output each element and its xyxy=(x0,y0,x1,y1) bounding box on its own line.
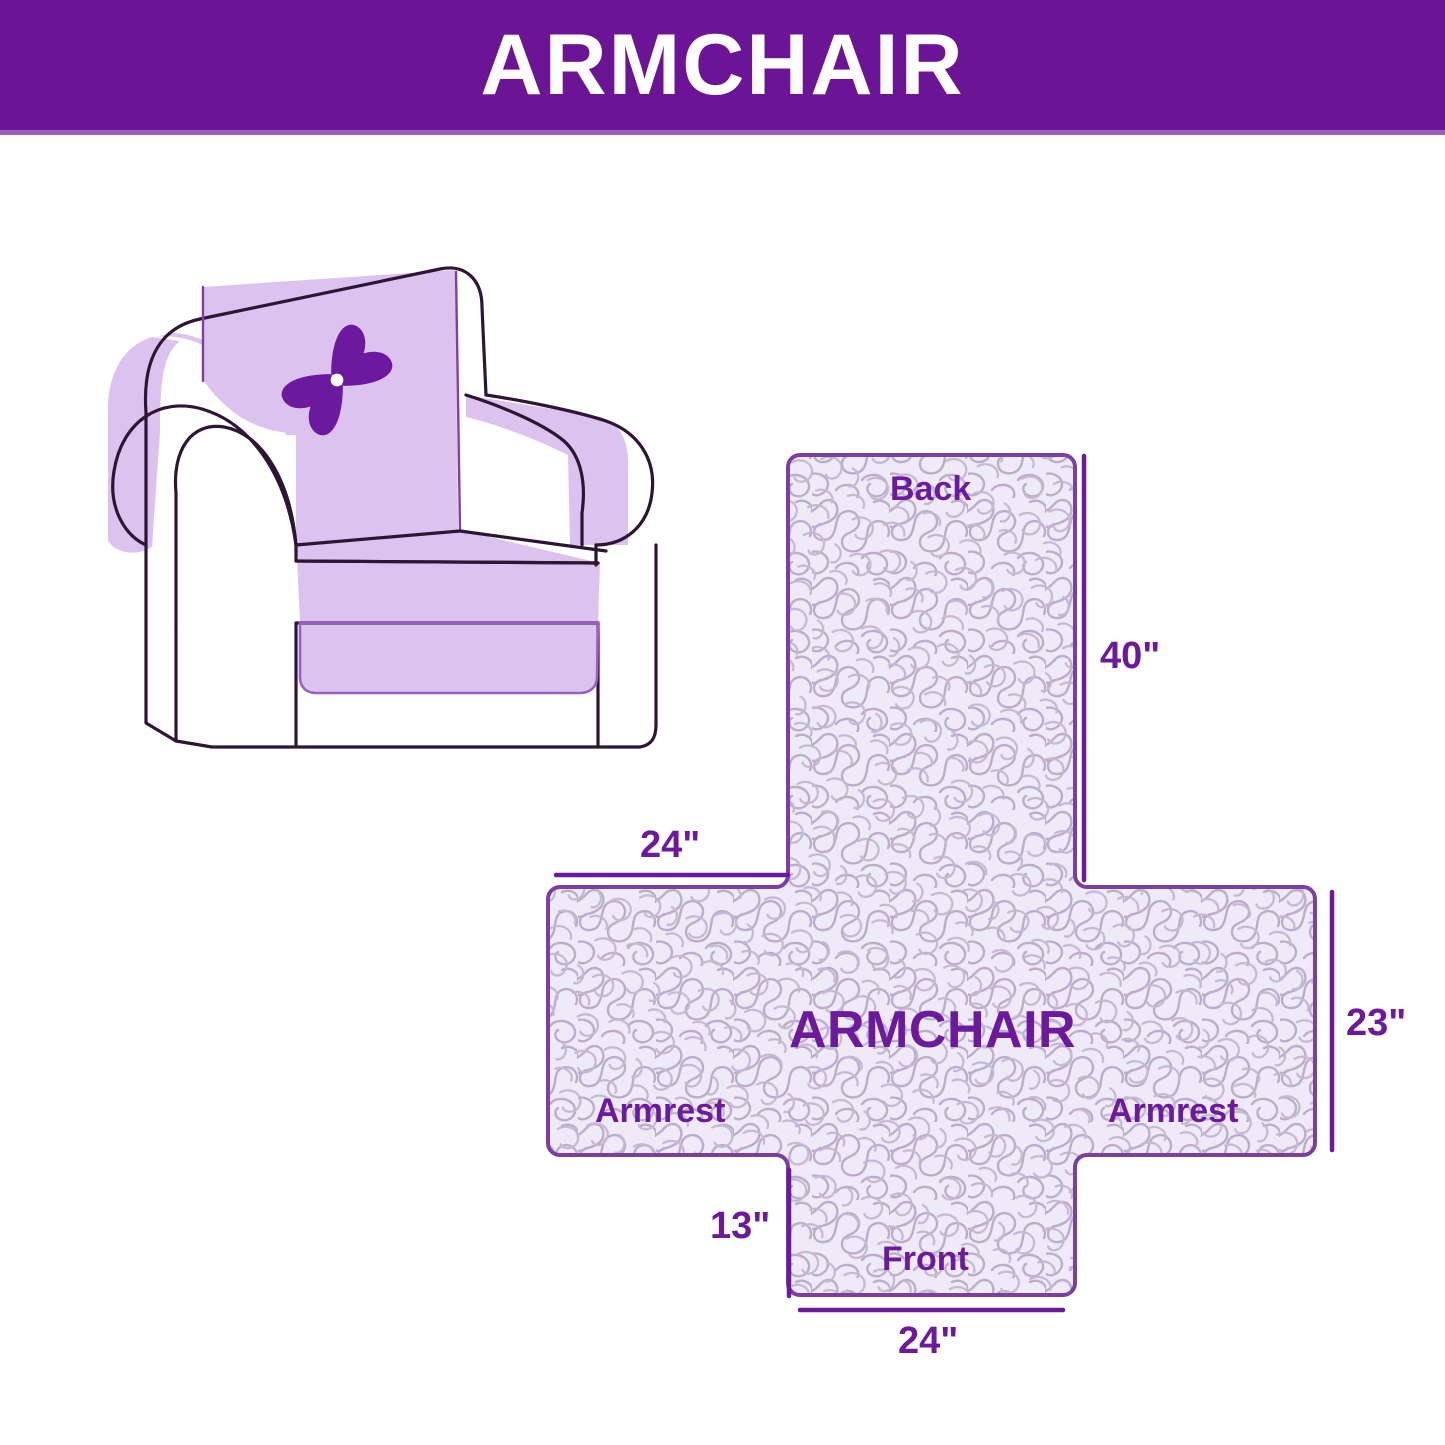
dimension-label-24in-bottom: 24" xyxy=(898,1320,958,1363)
chair-left-arm-inner xyxy=(175,426,296,625)
cover-pattern-diagram: Back ARMCHAIR Armrest Armrest Front 40" … xyxy=(500,420,1445,1420)
dimension-label-24in-top: 24" xyxy=(640,824,700,867)
dimension-label-23in: 23" xyxy=(1346,1002,1406,1045)
panel-label-center-armchair: ARMCHAIR xyxy=(789,1000,1076,1060)
chair-left-arm-cover-fill xyxy=(108,337,180,553)
panel-label-front: Front xyxy=(882,1240,969,1279)
header-banner: ARMCHAIR xyxy=(0,0,1445,130)
panel-label-armrest-left: Armrest xyxy=(595,1092,725,1131)
chair-left-front-panel xyxy=(146,545,176,741)
panel-label-back: Back xyxy=(890,470,971,509)
dimension-label-40in: 40" xyxy=(1100,635,1160,678)
panel-label-armrest-right: Armrest xyxy=(1108,1092,1238,1131)
dimension-label-13in: 13" xyxy=(710,1205,770,1248)
header-underline-divider xyxy=(0,130,1445,135)
page-title: ARMCHAIR xyxy=(480,22,964,108)
